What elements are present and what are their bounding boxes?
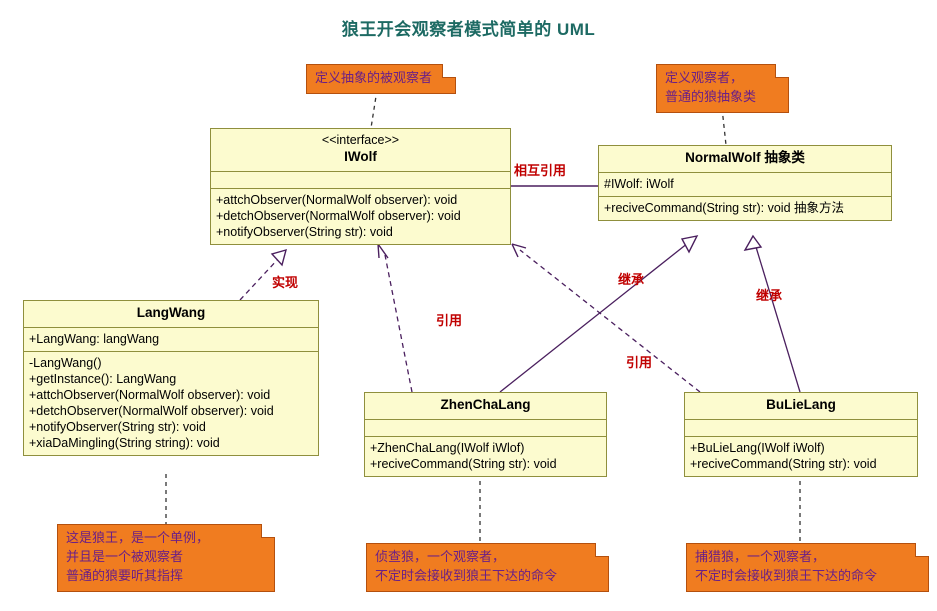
note-fold-corner-icon (261, 524, 275, 538)
note-bulielang: 捕猎狼，一个观察者， 不定时会接收到狼王下达的命令 (686, 543, 929, 592)
class-name: ZhenChaLang (441, 397, 531, 412)
relation-label-reference-left: 引用 (436, 310, 462, 329)
attribute-row: #IWolf: iWolf (604, 176, 886, 192)
relation-label-reference-right: 引用 (626, 352, 652, 371)
class-methods-zhenchalang: +ZhenChaLang(IWolf iWlof) +reciveCommand… (365, 436, 606, 476)
relation-reference-left-line (385, 255, 412, 392)
method-row: +attchObserver(NormalWolf observer): voi… (29, 387, 313, 403)
note-line: 侦查狼，一个观察者， (375, 548, 600, 567)
method-row: +xiaDaMingling(String string): void (29, 435, 313, 451)
relation-label-inherit-left: 继承 (618, 269, 644, 288)
class-name: IWolf (344, 149, 377, 164)
reference-left-arrowhead (378, 244, 388, 258)
class-methods-bulielang: +BuLieLang(IWolf iWolf) +reciveCommand(S… (685, 436, 917, 476)
note-line: 定义观察者， (665, 69, 780, 88)
class-box-bulielang[interactable]: BuLieLang +BuLieLang(IWolf iWolf) +reciv… (684, 392, 918, 477)
method-row: +reciveCommand(String str): void (690, 456, 912, 472)
inherit-right-arrowhead (745, 236, 761, 250)
note-line: 普通的狼抽象类 (665, 88, 780, 107)
leader-normalwolf-note (722, 108, 726, 145)
class-name: NormalWolf 抽象类 (685, 150, 805, 165)
note-langwang: 这是狼王，是一个单例， 并且是一个被观察者 普通的狼要听其指挥 (57, 524, 275, 592)
relation-inherit-right-line (756, 247, 800, 392)
method-row: -LangWang() (29, 355, 313, 371)
page-title: 狼王开会观察者模式简单的 UML (0, 15, 937, 40)
inherit-left-arrowhead (682, 236, 697, 252)
reference-right-arrowhead (512, 244, 526, 257)
method-row: +BuLieLang(IWolf iWolf) (690, 440, 912, 456)
class-name: BuLieLang (766, 397, 836, 412)
class-attributes-normalwolf: #IWolf: iWolf (599, 172, 891, 196)
class-methods-langwang: -LangWang() +getInstance(): LangWang +at… (24, 351, 318, 455)
note-line: 不定时会接收到狼王下达的命令 (375, 567, 600, 586)
class-header-bulielang: BuLieLang (685, 393, 917, 419)
note-normalwolf: 定义观察者， 普通的狼抽象类 (656, 64, 789, 113)
class-attributes-zhenchalang (365, 419, 606, 436)
note-zhenchalang: 侦查狼，一个观察者， 不定时会接收到狼王下达的命令 (366, 543, 609, 592)
method-row: +detchObserver(NormalWolf observer): voi… (29, 403, 313, 419)
attribute-row: +LangWang: langWang (29, 331, 313, 347)
class-methods-normalwolf: +reciveCommand(String str): void 抽象方法 (599, 196, 891, 220)
note-iwolf: 定义抽象的被观察者 (306, 64, 456, 94)
method-row: +detchObserver(NormalWolf observer): voi… (216, 208, 505, 224)
note-fold-corner-icon (915, 543, 929, 557)
class-box-zhenchalang[interactable]: ZhenChaLang +ZhenChaLang(IWolf iWlof) +r… (364, 392, 607, 477)
method-row: +getInstance(): LangWang (29, 371, 313, 387)
relation-label-mutual-reference: 相互引用 (514, 160, 566, 179)
note-fold-corner-icon (442, 64, 456, 78)
leader-iwolf-note (371, 90, 377, 128)
class-header-normalwolf: NormalWolf 抽象类 (599, 146, 891, 172)
method-row: +attchObserver(NormalWolf observer): voi… (216, 192, 505, 208)
uml-diagram-canvas: 狼王开会观察者模式简单的 UML 相互引用 实现 引用 继承 引用 继承 (0, 0, 937, 611)
class-box-langwang[interactable]: LangWang +LangWang: langWang -LangWang()… (23, 300, 319, 456)
class-name: LangWang (137, 305, 206, 320)
class-header-langwang: LangWang (24, 301, 318, 327)
method-row: +ZhenChaLang(IWolf iWlof) (370, 440, 601, 456)
note-line: 捕猎狼，一个观察者， (695, 548, 920, 567)
relation-inherit-left-line (500, 243, 688, 392)
method-row: +reciveCommand(String str): void (370, 456, 601, 472)
class-attributes-iwolf (211, 171, 510, 188)
note-line: 定义抽象的被观察者 (315, 69, 447, 88)
relation-label-realize: 实现 (272, 272, 298, 291)
note-line: 这是狼王，是一个单例， (66, 529, 266, 548)
class-box-normalwolf[interactable]: NormalWolf 抽象类 #IWolf: iWolf +reciveComm… (598, 145, 892, 221)
note-line: 并且是一个被观察者 (66, 548, 266, 567)
note-line: 普通的狼要听其指挥 (66, 567, 266, 586)
relation-reference-right-line (520, 250, 700, 392)
method-row: +notifyObserver(String str): void (29, 419, 313, 435)
class-attributes-bulielang (685, 419, 917, 436)
class-box-iwolf[interactable]: <<interface>> IWolf +attchObserver(Norma… (210, 128, 511, 245)
class-attributes-langwang: +LangWang: langWang (24, 327, 318, 351)
method-row: +reciveCommand(String str): void 抽象方法 (604, 200, 886, 216)
class-header-zhenchalang: ZhenChaLang (365, 393, 606, 419)
note-fold-corner-icon (775, 64, 789, 78)
class-header-iwolf: <<interface>> IWolf (211, 129, 510, 171)
note-fold-corner-icon (595, 543, 609, 557)
class-methods-iwolf: +attchObserver(NormalWolf observer): voi… (211, 188, 510, 244)
class-stereotype: <<interface>> (215, 133, 506, 149)
note-line: 不定时会接收到狼王下达的命令 (695, 567, 920, 586)
realize-arrowhead (272, 250, 286, 265)
method-row: +notifyObserver(String str): void (216, 224, 505, 240)
relation-label-inherit-right: 继承 (756, 285, 782, 304)
